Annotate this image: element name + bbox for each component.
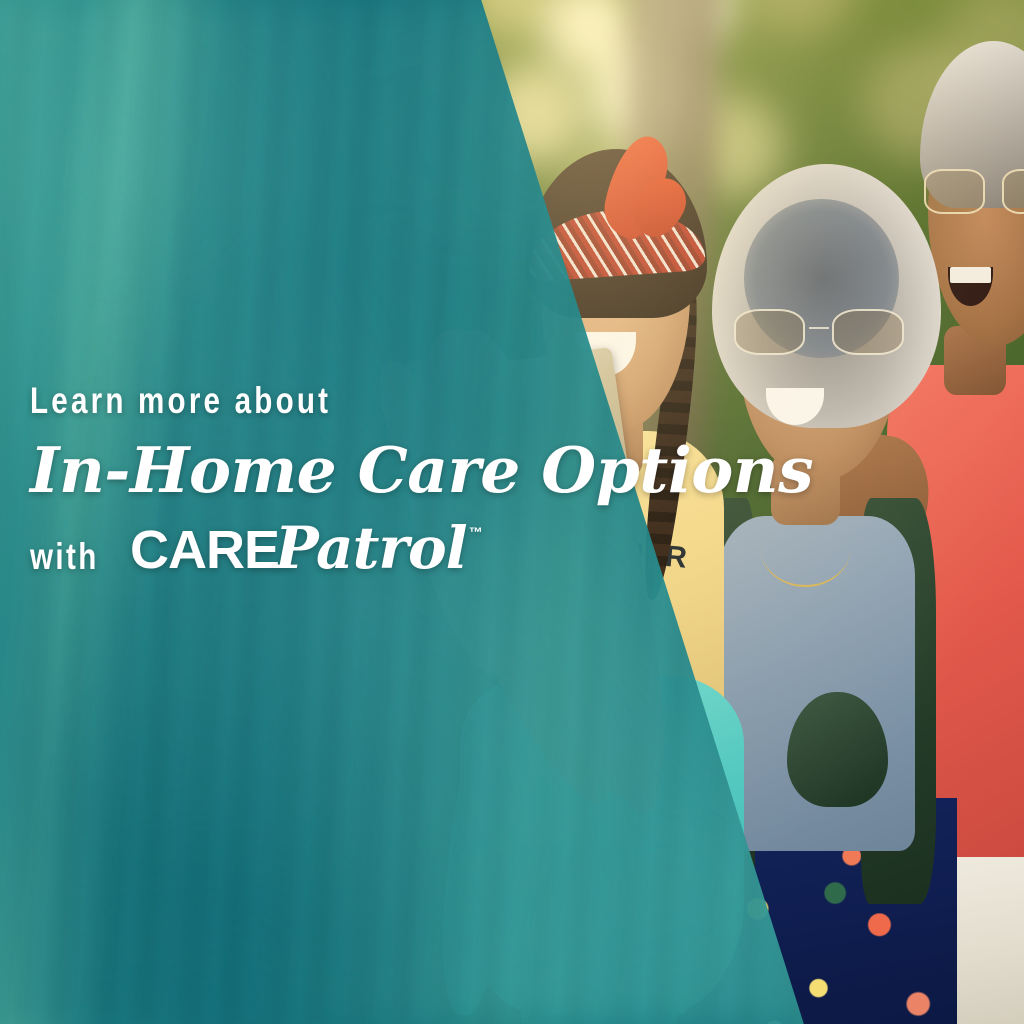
grandmother-glasses-icon [734,309,904,355]
carepatrol-logo: CARE Patrol ™ [130,522,483,575]
logo-word-care: CARE [130,526,279,576]
with-label: with [30,538,99,575]
glasses-bridge [809,327,829,329]
trademark-icon: ™ [469,524,483,540]
headline-copy-block: Learn more about In-Home Care Options wi… [30,382,690,575]
glasses-right-lens [1002,169,1024,214]
ad-creative: #SUMMER Learn more [0,0,1024,1024]
brand-lockup: with CARE Patrol ™ [30,522,690,575]
glasses-right-lens [832,309,904,355]
logo-word-patrol: Patrol [275,522,467,575]
eyebrow-text: Learn more about [30,382,558,419]
page-title: In-Home Care Options [30,439,690,502]
